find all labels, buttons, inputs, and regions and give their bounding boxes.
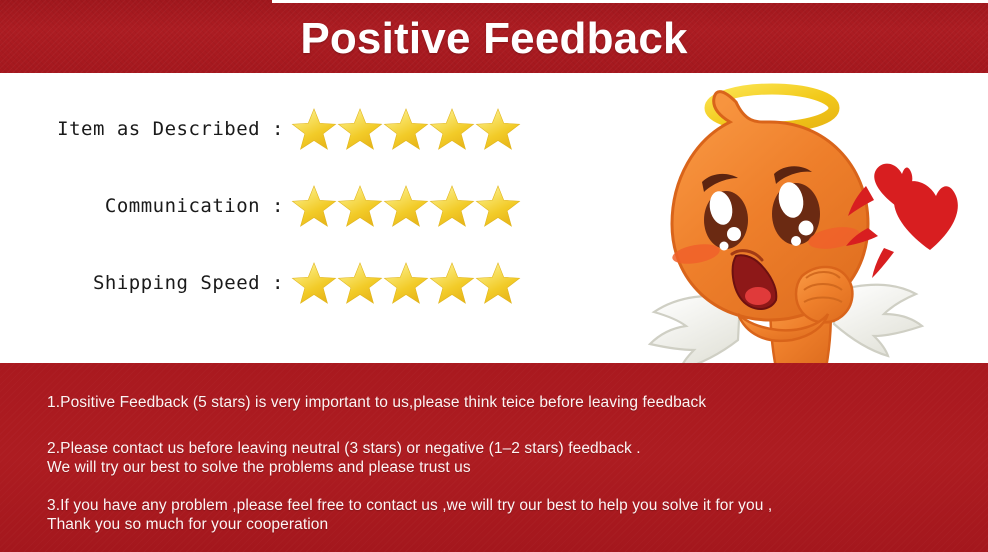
mascot-hands [796,267,852,322]
star-icon [428,105,476,153]
star-icon [474,182,522,230]
star-rating-item-as-described [290,105,520,153]
star-icon [336,259,384,307]
page-title: Positive Feedback [0,0,988,73]
star-icon [474,259,522,307]
star-icon [290,259,338,307]
positive-feedback-banner: Positive Feedback Item as Described : Co… [0,0,988,552]
mascot-illustration [620,68,988,368]
heart-large-icon [894,181,958,250]
star-icon [382,259,430,307]
star-icon [428,182,476,230]
rating-row: Shipping Speed : [0,255,520,311]
ratings-list: Item as Described : Communication : [0,73,620,363]
rating-row: Item as Described : [0,101,520,157]
mascot-eye-right-sparkle [799,221,814,236]
feedback-notes-panel: 1.Positive Feedback (5 stars) is very im… [0,363,988,552]
star-icon [290,105,338,153]
sparkle-ray-3 [872,248,894,278]
mascot-tongue [745,287,771,305]
note-line-3: 3.If you have any problem ,please feel f… [47,496,772,515]
mascot-eye-right-sparkle-small [791,236,801,246]
header-banner: Positive Feedback [0,0,988,73]
rating-label-shipping-speed: Shipping Speed : [0,272,290,294]
star-icon [382,182,430,230]
rating-row: Communication : [0,178,520,234]
star-icon [474,105,522,153]
star-icon [428,259,476,307]
star-icon [382,105,430,153]
note-line-3b: Thank you so much for your cooperation [47,515,328,534]
rating-label-item-as-described: Item as Described : [0,118,290,140]
note-line-1: 1.Positive Feedback (5 stars) is very im… [47,393,706,412]
mascot-eye-left-sparkle [727,227,741,241]
rating-label-communication: Communication : [0,195,290,217]
note-line-2b: We will try our best to solve the proble… [47,458,471,477]
note-line-2: 2.Please contact us before leaving neutr… [47,439,641,458]
ratings-section: Item as Described : Communication : [0,73,988,363]
star-rating-communication [290,182,520,230]
star-icon [336,182,384,230]
star-icon [290,182,338,230]
star-rating-shipping-speed [290,259,520,307]
star-icon [336,105,384,153]
mascot-eye-left-sparkle-small [720,242,729,251]
